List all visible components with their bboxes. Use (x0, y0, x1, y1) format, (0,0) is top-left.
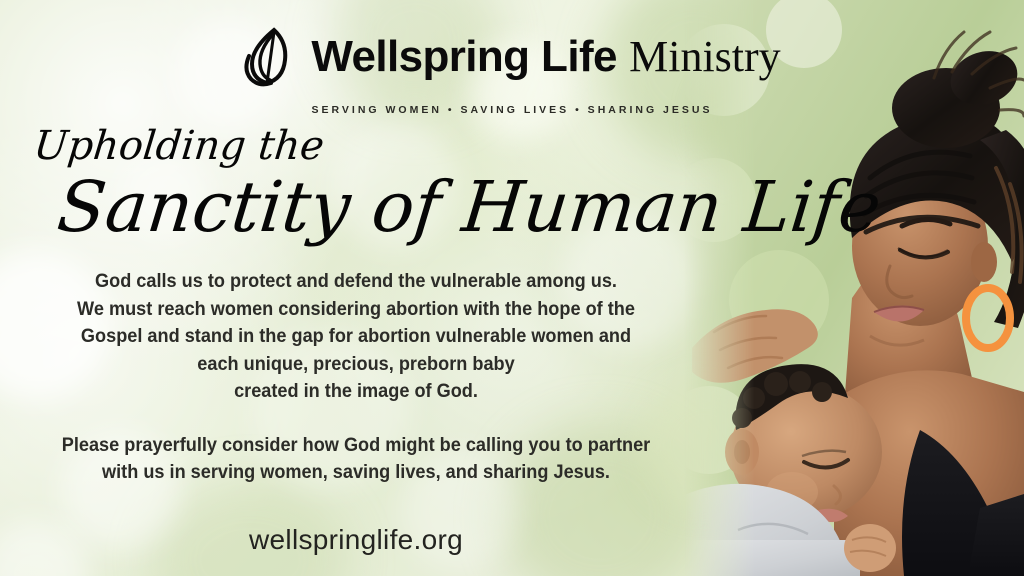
leaf-icon (243, 26, 297, 88)
body-line: Please prayerfully consider how God migh… (62, 434, 651, 456)
footer-url-block: wellspringlife.org (0, 524, 712, 556)
logo-block: Wellspring Life Ministry SERVING WOMEN •… (0, 26, 1024, 116)
body-line: We must reach women considering abortion… (77, 298, 635, 320)
body-line: created in the image of God. (234, 380, 478, 402)
website-url[interactable]: wellspringlife.org (249, 524, 463, 555)
logo-name-serif: Ministry (629, 32, 781, 81)
body-line: with us in serving women, saving lives, … (102, 461, 610, 483)
body-paragraph-2: Please prayerfully consider how God migh… (25, 432, 687, 487)
body-line: God calls us to protect and defend the v… (95, 270, 617, 292)
headline-line-2: Sanctity of Human Life (54, 172, 763, 242)
logo-tagline: SERVING WOMEN • SAVING LIVES • SHARING J… (0, 104, 1024, 116)
logo-lockup: Wellspring Life Ministry (243, 26, 780, 88)
headline-line-1: Upholding the (32, 126, 762, 166)
logo-wordmark: Wellspring Life Ministry (311, 35, 780, 79)
body-copy-block: God calls us to protect and defend the v… (0, 268, 712, 487)
poster-canvas: Wellspring Life Ministry SERVING WOMEN •… (0, 0, 1024, 576)
logo-name-bold: Wellspring Life (311, 32, 617, 81)
body-line: Gospel and stand in the gap for abortion… (81, 325, 631, 347)
body-paragraph-1: God calls us to protect and defend the v… (25, 268, 687, 406)
headline-block: Upholding the Sanctity of Human Life (0, 126, 760, 242)
body-line: each unique, precious, preborn baby (197, 353, 514, 375)
